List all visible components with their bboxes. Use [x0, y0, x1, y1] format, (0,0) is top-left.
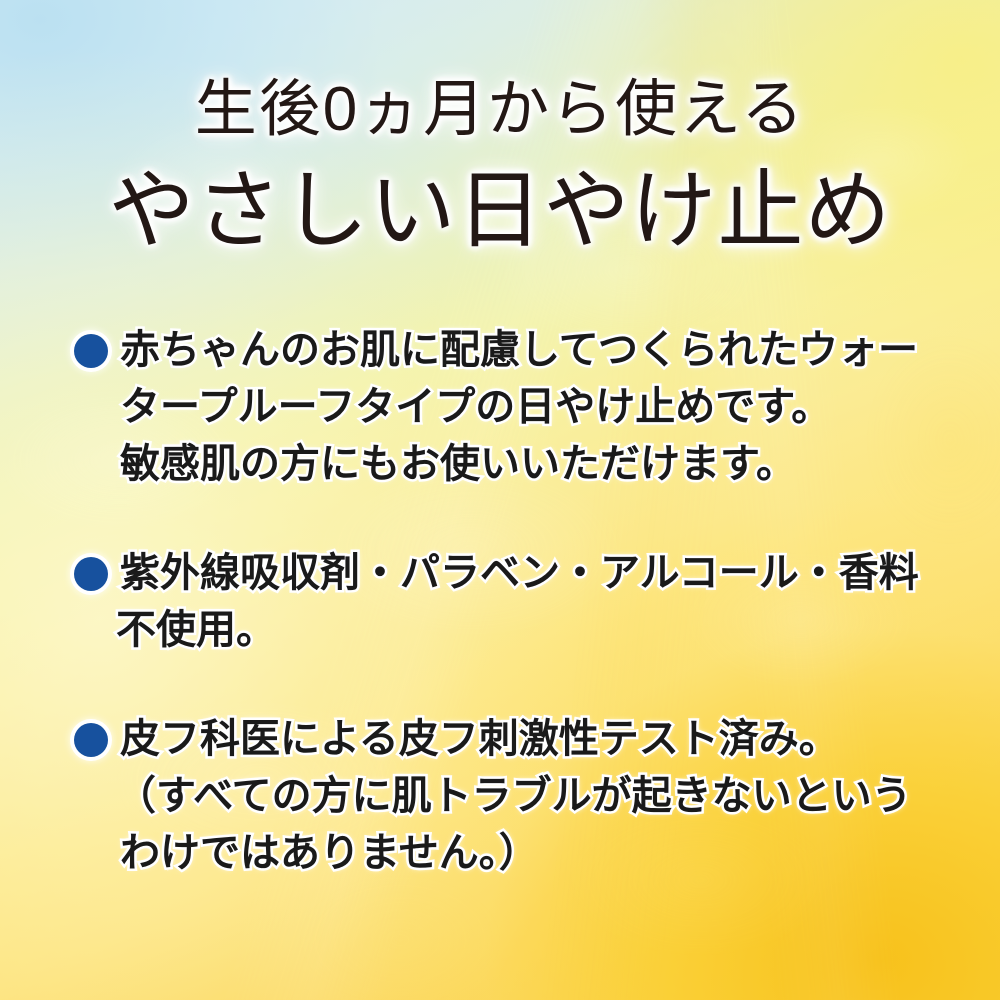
- heading-line-2: やさしい日やけ止め: [0, 140, 1000, 265]
- bullet-1-line-1: 赤ちゃんのお肌に配慮してつくられたウォー: [72, 322, 942, 379]
- bullet-item-2: 紫外線吸収剤・パラベン・アルコール・香料 不使用。: [72, 545, 942, 659]
- bullet-3-line-2: （すべての方に肌トラブルが起きないという: [72, 768, 942, 825]
- bullet-2-line-1: 紫外線吸収剤・パラベン・アルコール・香料: [72, 545, 942, 602]
- bullet-3-line-1: 皮フ科医による皮フ刺激性テスト済み。: [72, 711, 942, 768]
- bullet-item-1: 赤ちゃんのお肌に配慮してつくられたウォー タープルーフタイプの日やけ止めです。 …: [72, 322, 942, 493]
- bullet-2-line-2: 不使用。: [72, 602, 942, 659]
- bullet-3-line-3: わけではありません。）: [72, 825, 942, 882]
- poster-content: 生後0ヵ月から使える やさしい日やけ止め 赤ちゃんのお肌に配慮してつくられたウォ…: [0, 0, 1000, 1000]
- bullet-item-3: 皮フ科医による皮フ刺激性テスト済み。 （すべての方に肌トラブルが起きないという …: [72, 711, 942, 882]
- bullet-1-line-2: タープルーフタイプの日やけ止めです。: [72, 379, 942, 436]
- bullet-1-line-3: 敏感肌の方にもお使いいただけます。: [72, 436, 942, 493]
- heading-line-1: 生後0ヵ月から使える: [0, 58, 1000, 148]
- poster-canvas: 生後0ヵ月から使える やさしい日やけ止め 赤ちゃんのお肌に配慮してつくられたウォ…: [0, 0, 1000, 1000]
- feature-bullet-list: 赤ちゃんのお肌に配慮してつくられたウォー タープルーフタイプの日やけ止めです。 …: [72, 322, 942, 882]
